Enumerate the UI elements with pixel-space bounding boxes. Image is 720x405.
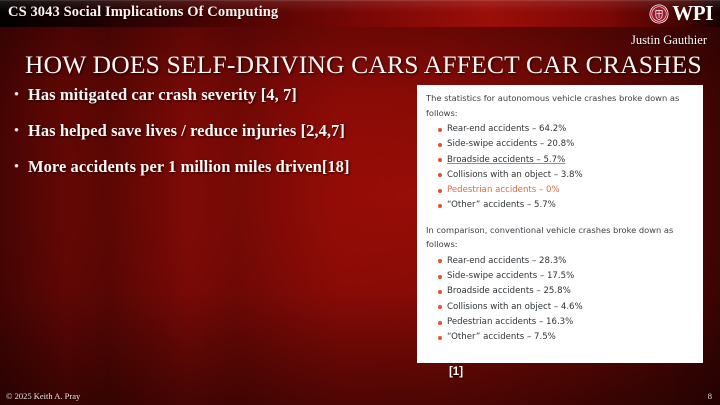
list-item: Broadside accidents – 25.8% bbox=[438, 284, 703, 299]
list-item-label: Pedestrian accidents – 16.3% bbox=[447, 317, 573, 327]
list-item: “Other” accidents – 7.5% bbox=[438, 330, 703, 345]
list-item-label: Rear-end accidents – 64.2% bbox=[447, 124, 566, 134]
footer-copyright: © 2025 Keith A. Pray bbox=[6, 391, 80, 401]
stats-intro-autonomous: The statistics for autonomous vehicle cr… bbox=[417, 85, 703, 120]
list-item-label: “Other” accidents – 5.7% bbox=[447, 200, 556, 210]
list-item: Rear-end accidents – 64.2% bbox=[438, 122, 703, 137]
list-item-label: Side-swipe accidents – 17.5% bbox=[447, 271, 574, 281]
wpi-seal-icon bbox=[649, 4, 669, 24]
list-item: Side-swipe accidents – 17.5% bbox=[438, 269, 703, 284]
list-item: Pedestrian accidents – 16.3% bbox=[438, 315, 703, 330]
list-item: Side-swipe accidents – 20.8% bbox=[438, 137, 703, 152]
bullet-item: • Has mitigated car crash severity [4, 7… bbox=[12, 85, 410, 105]
bullet-marker-icon: • bbox=[12, 157, 21, 177]
list-item-label: Broadside accidents – 25.8% bbox=[447, 286, 571, 296]
list-item-label: Broadside accidents – 5.7% bbox=[447, 155, 565, 165]
list-item-label: “Other” accidents – 7.5% bbox=[447, 332, 556, 342]
list-item-label: Collisions with an object – 4.6% bbox=[447, 302, 583, 312]
statistics-image-panel: The statistics for autonomous vehicle cr… bbox=[417, 85, 703, 363]
slide-header-bar: CS 3043 Social Implications Of Computing… bbox=[0, 0, 720, 27]
list-item: Collisions with an object – 3.8% bbox=[438, 168, 703, 183]
stats-list-conventional: Rear-end accidents – 28.3% Side-swipe ac… bbox=[417, 254, 703, 346]
presentation-slide: CS 3043 Social Implications Of Computing… bbox=[0, 0, 720, 405]
list-item: “Other” accidents – 5.7% bbox=[438, 198, 703, 213]
list-item: Pedestrian accidents – 0% bbox=[438, 183, 703, 198]
stats-intro-conventional: In comparison, conventional vehicle cras… bbox=[417, 214, 703, 252]
bullet-text: Has mitigated car crash severity [4, 7] bbox=[28, 85, 297, 105]
bullet-marker-icon: • bbox=[12, 85, 21, 105]
list-item: Collisions with an object – 4.6% bbox=[438, 300, 703, 315]
wpi-logo: WPI bbox=[649, 1, 713, 26]
bullet-text: Has helped save lives / reduce injuries … bbox=[28, 121, 345, 141]
wpi-wordmark: WPI bbox=[672, 3, 713, 24]
bullet-marker-icon: • bbox=[12, 121, 21, 141]
list-item-label: Side-swipe accidents – 20.8% bbox=[447, 139, 574, 149]
list-item-label: Collisions with an object – 3.8% bbox=[447, 170, 583, 180]
citation-reference: [1] bbox=[0, 366, 720, 378]
list-item-label: Rear-end accidents – 28.3% bbox=[447, 256, 566, 266]
list-item: Broadside accidents – 5.7% bbox=[438, 153, 703, 168]
footer-page-number: 8 bbox=[708, 391, 712, 401]
author-name: Justin Gauthier bbox=[631, 33, 707, 48]
stats-list-autonomous: Rear-end accidents – 64.2% Side-swipe ac… bbox=[417, 122, 703, 214]
citation-label: [1] bbox=[449, 366, 463, 378]
bullet-list: • Has mitigated car crash severity [4, 7… bbox=[12, 85, 410, 193]
course-title: CS 3043 Social Implications Of Computing bbox=[8, 4, 278, 21]
list-item-label: Pedestrian accidents – 0% bbox=[447, 185, 560, 195]
slide-title: HOW DOES SELF-DRIVING CARS AFFECT CAR CR… bbox=[25, 52, 700, 79]
bullet-item: • Has helped save lives / reduce injurie… bbox=[12, 121, 410, 141]
bullet-item: • More accidents per 1 million miles dri… bbox=[12, 157, 410, 177]
bullet-text: More accidents per 1 million miles drive… bbox=[28, 157, 350, 177]
list-item: Rear-end accidents – 28.3% bbox=[438, 254, 703, 269]
